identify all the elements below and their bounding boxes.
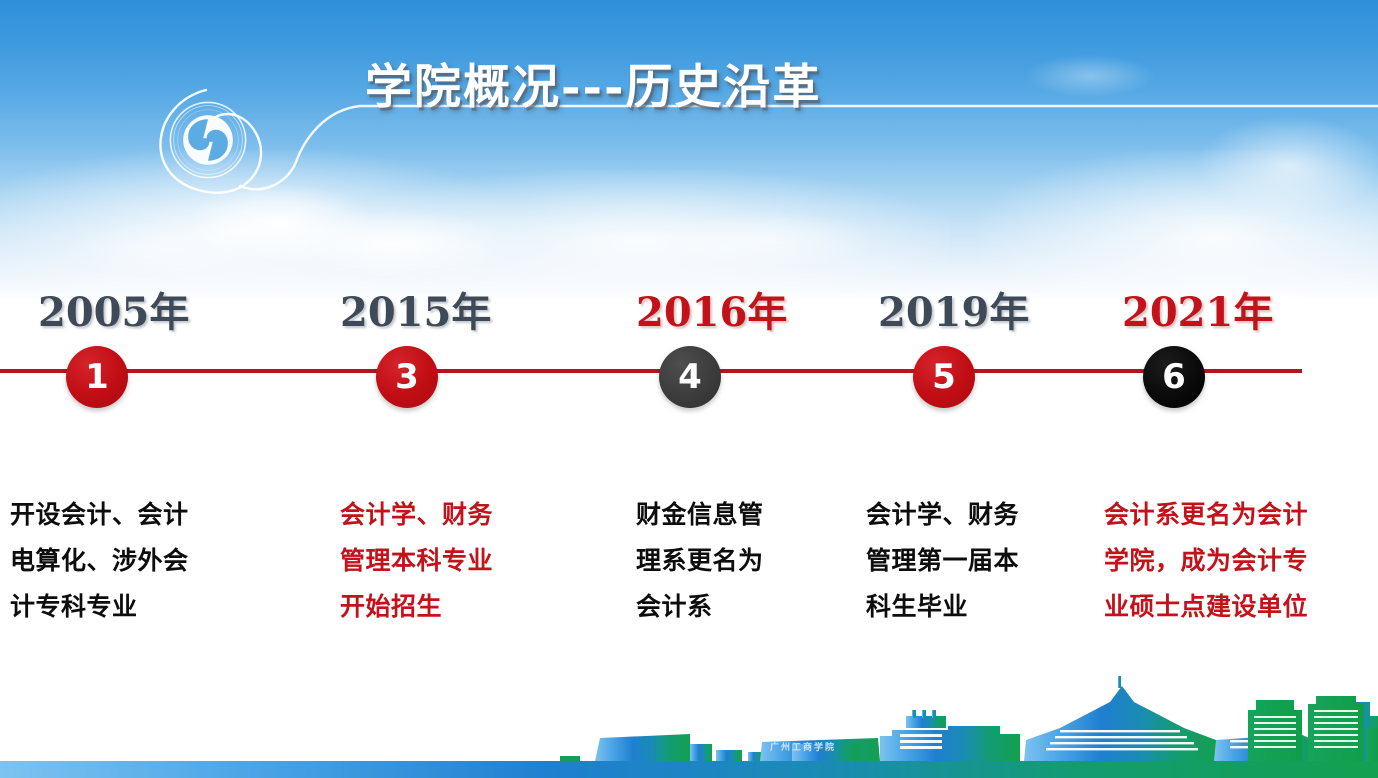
slide-canvas: 学院概况---历史沿革 2005年 1 开设会计、会计 电算化、涉外会 计专科专… [0, 0, 1378, 778]
milestone-node-5[interactable]: 6 [1143, 346, 1205, 408]
skyline-building-label: 广州工商学院 [770, 740, 836, 753]
university-emblem-icon [168, 100, 248, 180]
milestone-node-4[interactable]: 5 [913, 346, 975, 408]
logo-area [150, 82, 280, 202]
milestone-node-1[interactable]: 1 [66, 346, 128, 408]
milestone-year-2: 2015年 [340, 280, 491, 338]
milestone-year-3: 2016年 [636, 280, 787, 338]
milestone-desc-5: 会计系更名为会计 学院，成为会计专 业硕士点建设单位 [1104, 492, 1378, 630]
milestone-desc-4: 会计学、财务 管理第一届本 科生毕业 [866, 492, 1086, 630]
skyline-towers-icon [0, 668, 1378, 778]
milestone-node-3[interactable]: 4 [659, 346, 721, 408]
milestone-year-1: 2005年 [38, 280, 189, 338]
milestone-year-4: 2019年 [878, 280, 1029, 338]
milestone-desc-3: 财金信息管 理系更名为 会计系 [636, 492, 836, 630]
page-title: 学院概况---历史沿革 [365, 48, 965, 117]
milestone-desc-2: 会计学、财务 管理本科专业 开始招生 [340, 492, 560, 630]
milestone-desc-1: 开设会计、会计 电算化、涉外会 计专科专业 [10, 492, 230, 630]
milestone-node-2[interactable]: 3 [376, 346, 438, 408]
milestone-year-5: 2021年 [1122, 280, 1273, 338]
timeline-axis [0, 369, 1302, 373]
